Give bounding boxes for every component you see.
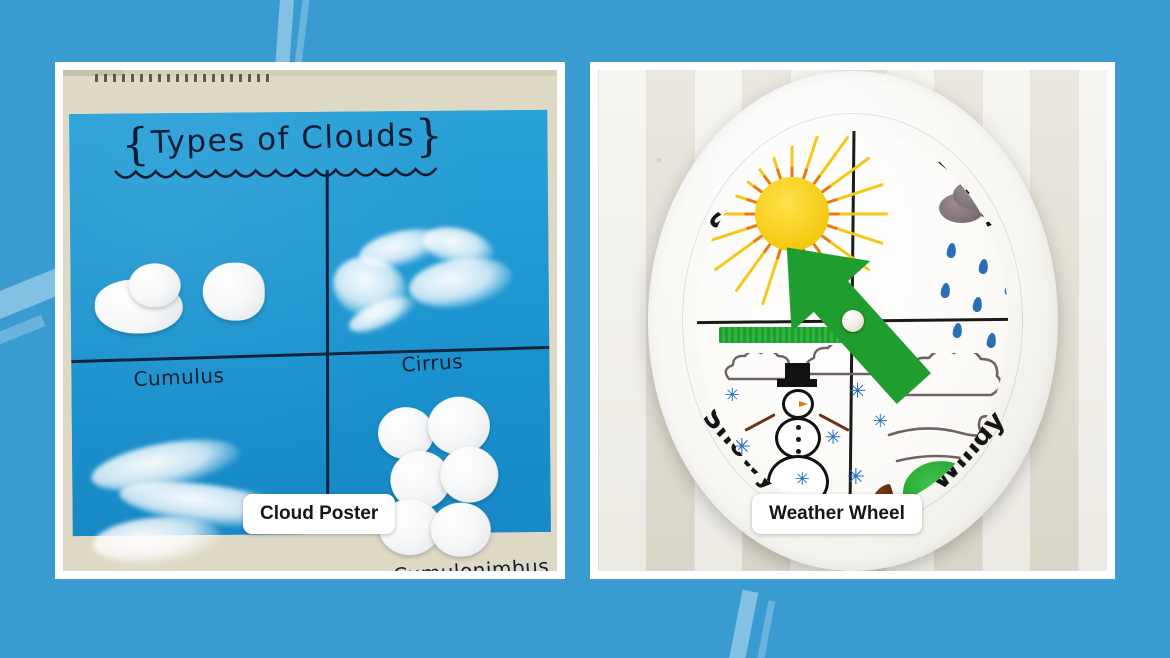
snowflake-icon: ✳	[847, 467, 865, 489]
rain-drop	[978, 258, 989, 274]
brace-open-icon: {	[121, 119, 152, 171]
rain-cloud-icon	[935, 175, 1009, 227]
decorative-stripe-top-thin	[294, 0, 313, 70]
snowflake-icon: ✳	[795, 471, 810, 489]
caption-badge-cloud-poster: Cloud Poster	[243, 494, 395, 534]
wheel-pivot-brad[interactable]	[842, 310, 864, 332]
rain-drop	[946, 242, 957, 258]
cotton-ball-cb-f	[431, 502, 491, 557]
snowflake-icon: ✳	[721, 483, 737, 502]
cotton-ball-cb-b	[428, 396, 491, 455]
snowflake-icon: ✳	[725, 387, 740, 405]
decorative-stripe-bottom	[718, 590, 759, 658]
poster-divider-horizontal	[71, 345, 549, 362]
cotton-ball-cumulus-c	[202, 262, 265, 321]
brace-close-icon: }	[414, 110, 445, 162]
poster-title-text: Types of Clouds	[150, 117, 415, 161]
decorative-stripe-left-thin	[0, 315, 45, 397]
snowflake-icon: ✳	[733, 437, 751, 459]
scalloped-underline	[114, 163, 444, 186]
caption-badge-weather-wheel: Weather Wheel	[752, 494, 922, 534]
poster-blue-sheet: {Types of Clouds}	[69, 110, 551, 536]
cloud-label-cumulus: Cumulus	[133, 363, 225, 391]
cloud-label-cirrus: Cirrus	[401, 349, 464, 377]
poster-tape-marks	[95, 74, 270, 82]
poster-divider-vertical	[325, 170, 329, 530]
cotton-ball-cb-d	[440, 446, 498, 503]
cotton-ball-cumulus-b	[128, 263, 180, 307]
page-root: {Types of Clouds}	[0, 0, 1170, 658]
poster-title: {Types of Clouds}	[121, 112, 528, 168]
